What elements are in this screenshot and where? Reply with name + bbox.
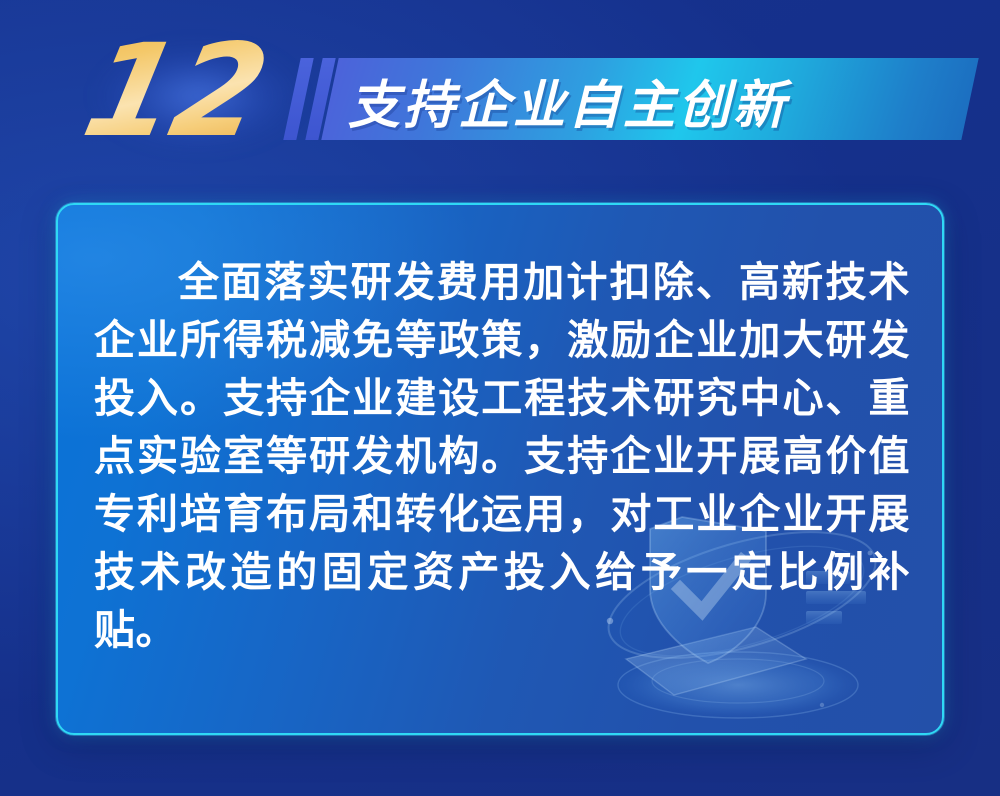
content-card: 全面落实研发费用加计扣除、高新技术企业所得税减免等政策，激励企业加大研发投入。支… xyxy=(56,203,944,735)
card-body-text: 全面落实研发费用加计扣除、高新技术企业所得税减免等政策，激励企业加大研发投入。支… xyxy=(94,253,910,659)
platform-ellipse xyxy=(618,652,858,718)
page-title: 支持企业自主创新 xyxy=(348,60,968,140)
poster-root: 12 支持企业自主创新 xyxy=(0,0,1000,796)
poster-header: 12 支持企业自主创新 xyxy=(0,0,1000,190)
section-number: 12 xyxy=(73,22,277,162)
sparkle-dot xyxy=(820,703,824,707)
